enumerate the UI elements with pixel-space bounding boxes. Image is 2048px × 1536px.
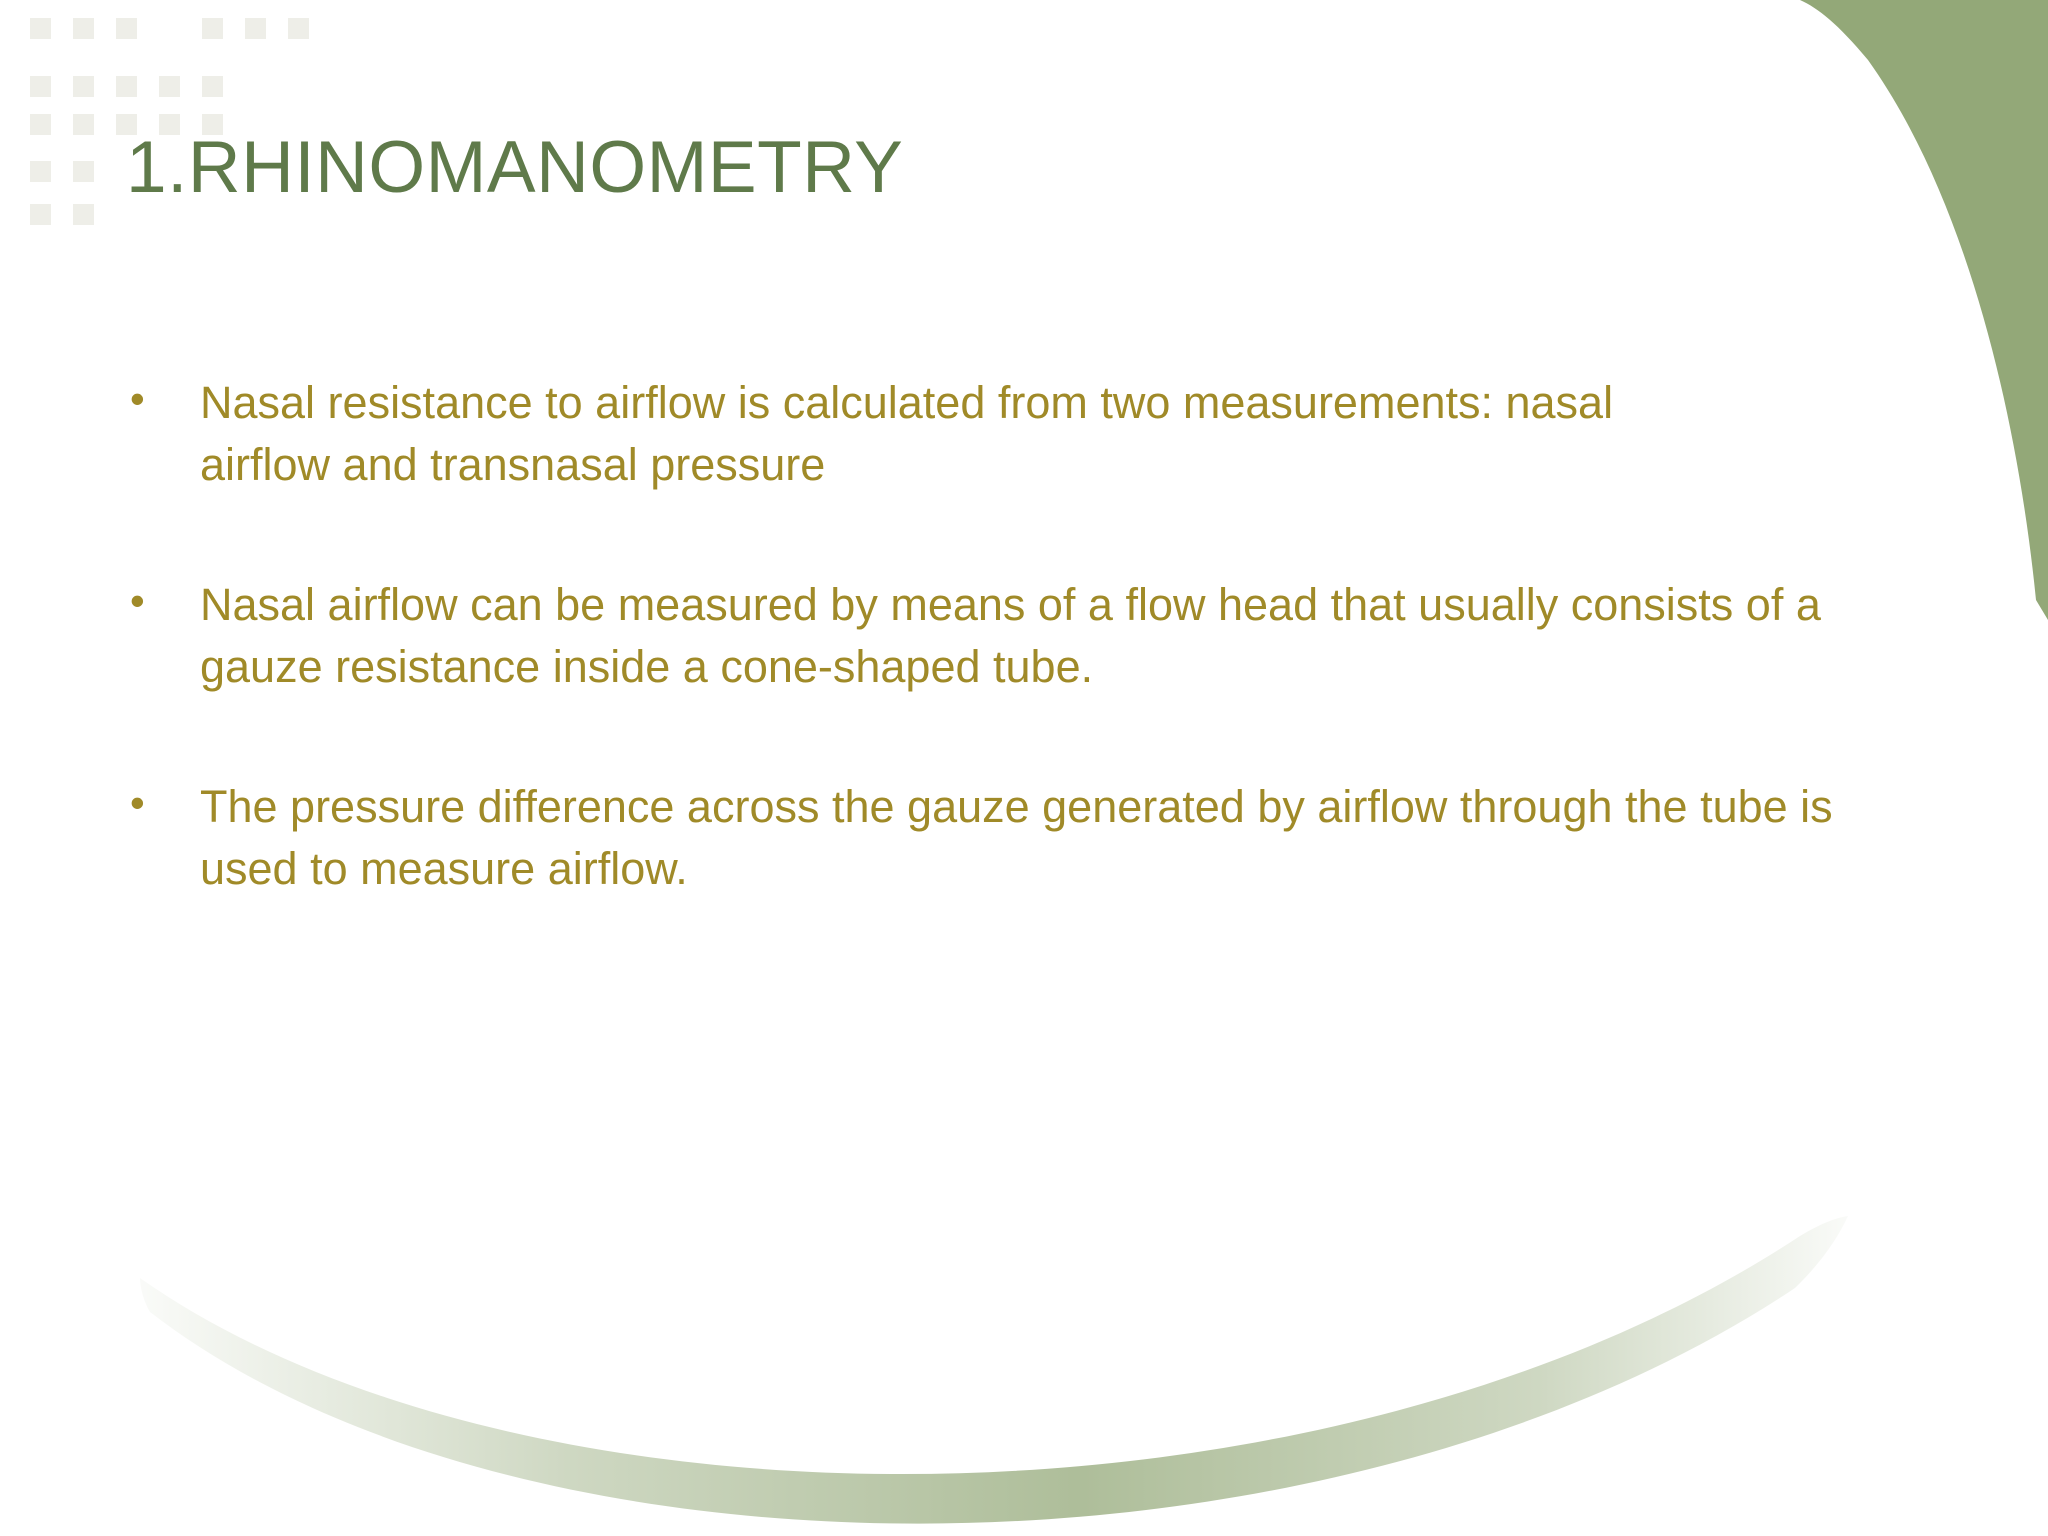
bullet-dot-icon: • xyxy=(120,776,200,830)
bullet-text: The pressure difference across the gauze… xyxy=(200,776,1920,900)
dot-grid-cell xyxy=(73,76,94,97)
dot-grid-cell xyxy=(202,18,223,39)
list-item: • Nasal resistance to airflow is calcula… xyxy=(120,372,1920,496)
dot-grid-cell xyxy=(116,18,137,39)
dot-grid-cell xyxy=(288,18,309,39)
dot-grid-cell xyxy=(30,204,51,225)
dot-grid-cell xyxy=(73,161,94,182)
bullet-list: • Nasal resistance to airflow is calcula… xyxy=(120,372,1920,901)
sage-bottom-swoosh xyxy=(0,1216,2048,1536)
bullet-dot-icon: • xyxy=(120,574,200,628)
slide-canvas: 1.RHINOMANOMETRY • Nasal resistance to a… xyxy=(0,0,2048,1536)
dot-grid-cell xyxy=(30,18,51,39)
dot-grid-cell xyxy=(245,18,266,39)
dot-grid-cell xyxy=(73,114,94,135)
list-item: • Nasal airflow can be measured by means… xyxy=(120,574,1920,698)
page-title: 1.RHINOMANOMETRY xyxy=(126,131,903,204)
dot-grid-cell xyxy=(30,114,51,135)
list-item: • The pressure difference across the gau… xyxy=(120,776,1920,900)
dot-grid-cell xyxy=(30,76,51,97)
bullet-text: Nasal resistance to airflow is calculate… xyxy=(200,372,1620,496)
bullet-text: Nasal airflow can be measured by means o… xyxy=(200,574,1890,698)
dot-grid-cell xyxy=(73,204,94,225)
dot-grid-cell xyxy=(159,76,180,97)
dot-grid-cell xyxy=(30,161,51,182)
dot-grid-cell xyxy=(73,18,94,39)
bullet-dot-icon: • xyxy=(120,372,200,426)
dot-grid-cell xyxy=(116,76,137,97)
dot-grid-cell xyxy=(202,76,223,97)
